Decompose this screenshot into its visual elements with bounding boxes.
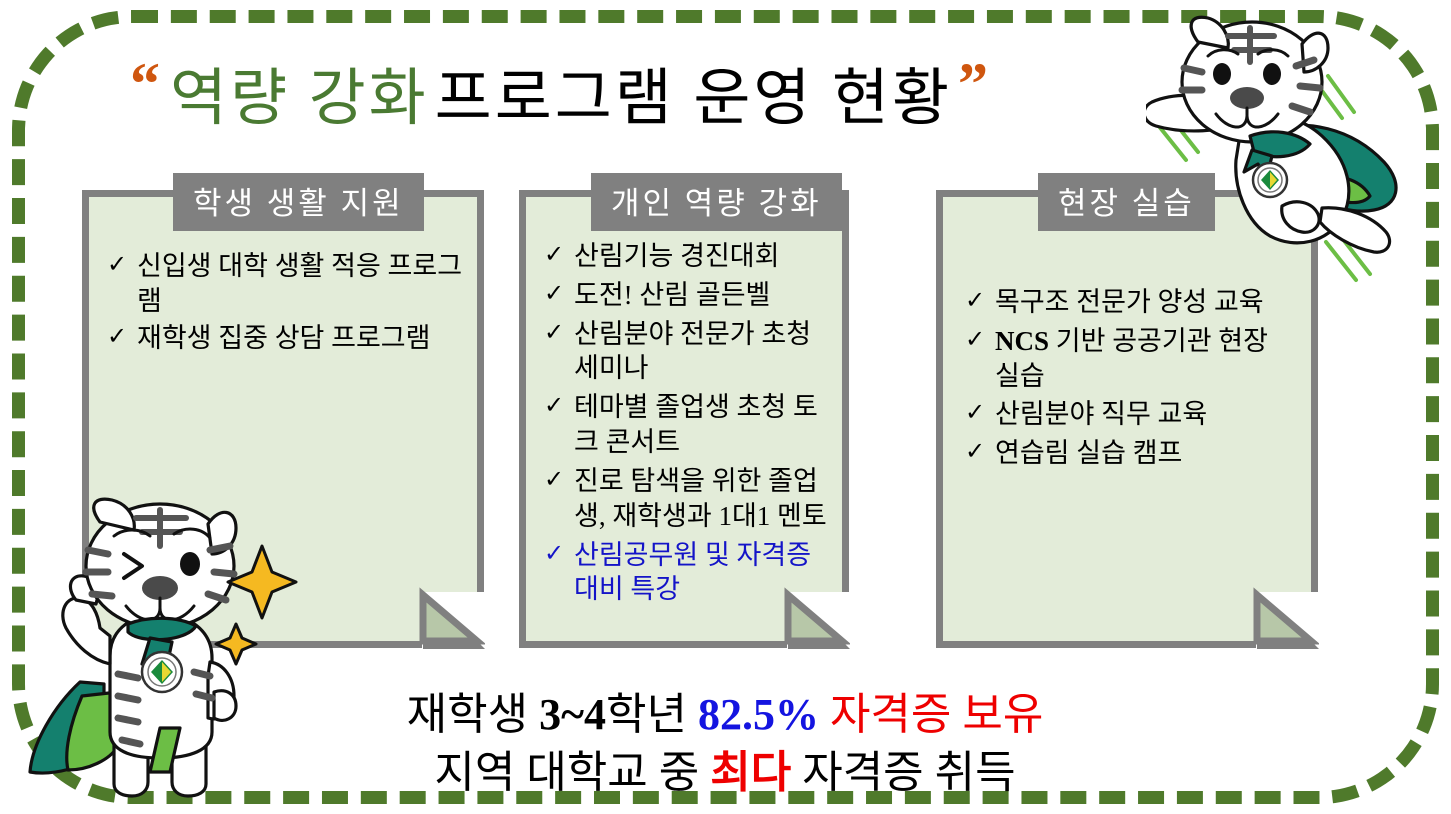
list-item[interactable]: ✓ 진로 탐색을 위한 졸업생, 재학생과 1대1 멘토 xyxy=(544,464,830,534)
list-item[interactable]: ✓ 도전! 산림 골든벨 xyxy=(544,278,830,313)
card-header-personal-capacity: 개인 역량 강화 xyxy=(591,173,842,231)
slogan-line-1: 재학생 3~4학년 82.5% 자격증 보유 xyxy=(250,686,1200,744)
check-icon: ✓ xyxy=(965,397,995,430)
list-item[interactable]: ✓ 산림분야 전문가 초청 세미나 xyxy=(544,317,830,387)
page-title: “ 역량 강화 프로그램 운영 현황 ” xyxy=(130,46,1190,138)
card-body-personal-capacity: ✓ 산림기능 경진대회 ✓ 도전! 산림 골든벨 ✓ 산림분야 전문가 초청 세… xyxy=(526,197,842,641)
check-icon: ✓ xyxy=(544,278,574,311)
flying-tiger-mascot xyxy=(1146,10,1446,310)
open-quote-mark: “ xyxy=(130,54,160,114)
list-item[interactable]: ✓ 재학생 집중 상담 프로그램 xyxy=(107,321,465,356)
card-fold-corner xyxy=(1243,577,1319,649)
card-fold-corner xyxy=(774,577,850,649)
card-personal-capacity[interactable]: 개인 역량 강화 ✓ 산림기능 경진대회 ✓ 도전! 산림 골든벨 ✓ 산림분야… xyxy=(519,190,849,648)
list-item[interactable]: ✓ 테마별 졸업생 초청 토크 콘서트 xyxy=(544,390,830,460)
card-header-student-life-support: 학생 생활 지원 xyxy=(173,173,424,231)
check-icon: ✓ xyxy=(544,464,574,497)
slogan-l1-grade: 3~4 xyxy=(539,690,606,739)
slide-canvas: “ 역량 강화 프로그램 운영 현황 ” 학생 생활 지원 ✓ 신입생 대학 생… xyxy=(0,0,1451,814)
slogan-l1-part2: 학년 xyxy=(606,690,698,739)
list-item-label: 산림분야 직무 교육 xyxy=(995,397,1299,432)
slogan-l2-part2: 자격증 취득 xyxy=(791,748,1015,797)
pointing-tiger-mascot xyxy=(18,496,308,808)
list-item-label: 도전! 산림 골든벨 xyxy=(574,278,830,313)
check-icon: ✓ xyxy=(107,321,137,354)
check-icon: ✓ xyxy=(107,249,137,282)
check-icon: ✓ xyxy=(544,239,574,272)
ncs-bold-prefix: NCS xyxy=(995,326,1049,356)
check-icon: ✓ xyxy=(965,285,995,318)
list-item[interactable]: ✓ NCS 기반 공공기관 현장 실습 xyxy=(965,324,1299,394)
slogan-l1-red: 자격증 보유 xyxy=(819,690,1043,739)
list-item[interactable]: ✓ 연습림 실습 캠프 xyxy=(965,436,1299,471)
check-icon: ✓ xyxy=(544,390,574,423)
slogan-percent-value: 82.5% xyxy=(698,690,819,739)
list-item-label: 진로 탐색을 위한 졸업생, 재학생과 1대1 멘토 xyxy=(574,464,830,534)
check-icon: ✓ xyxy=(544,538,574,571)
check-icon: ✓ xyxy=(544,317,574,350)
title-rest-text: 프로그램 운영 현황 xyxy=(435,47,952,137)
close-quote-mark: ” xyxy=(958,54,988,114)
slogan-line-2: 지역 대학교 중 최다 자격증 취득 xyxy=(250,744,1200,802)
list-item-label: 산림분야 전문가 초청 세미나 xyxy=(574,317,830,387)
check-icon: ✓ xyxy=(965,436,995,469)
list-item-label: 연습림 실습 캠프 xyxy=(995,436,1299,471)
list-item[interactable]: ✓ 산림기능 경진대회 xyxy=(544,239,830,274)
slogan-l2-red: 최다 xyxy=(710,748,791,797)
bottom-slogan: 재학생 3~4학년 82.5% 자격증 보유 지역 대학교 중 최다 자격증 취… xyxy=(250,686,1200,802)
list-item-label: 테마별 졸업생 초청 토크 콘서트 xyxy=(574,390,830,460)
list-item-label: 신입생 대학 생활 적응 프로그램 xyxy=(137,249,465,319)
list-item[interactable]: ✓ 신입생 대학 생활 적응 프로그램 xyxy=(107,249,465,319)
check-icon: ✓ xyxy=(965,324,995,357)
list-item-label-ncs: NCS 기반 공공기관 현장 실습 xyxy=(995,324,1299,394)
list-item-label: 산림기능 경진대회 xyxy=(574,239,830,274)
list-item-label: 재학생 집중 상담 프로그램 xyxy=(137,321,465,356)
title-highlight-text: 역량 강화 xyxy=(170,47,429,137)
list-item[interactable]: ✓ 산림분야 직무 교육 xyxy=(965,397,1299,432)
slogan-l2-part1: 지역 대학교 중 xyxy=(434,748,710,797)
slogan-l1-part1: 재학생 xyxy=(407,690,539,739)
card-header-field-practice: 현장 실습 xyxy=(1038,173,1215,231)
card-fold-corner xyxy=(409,577,485,649)
